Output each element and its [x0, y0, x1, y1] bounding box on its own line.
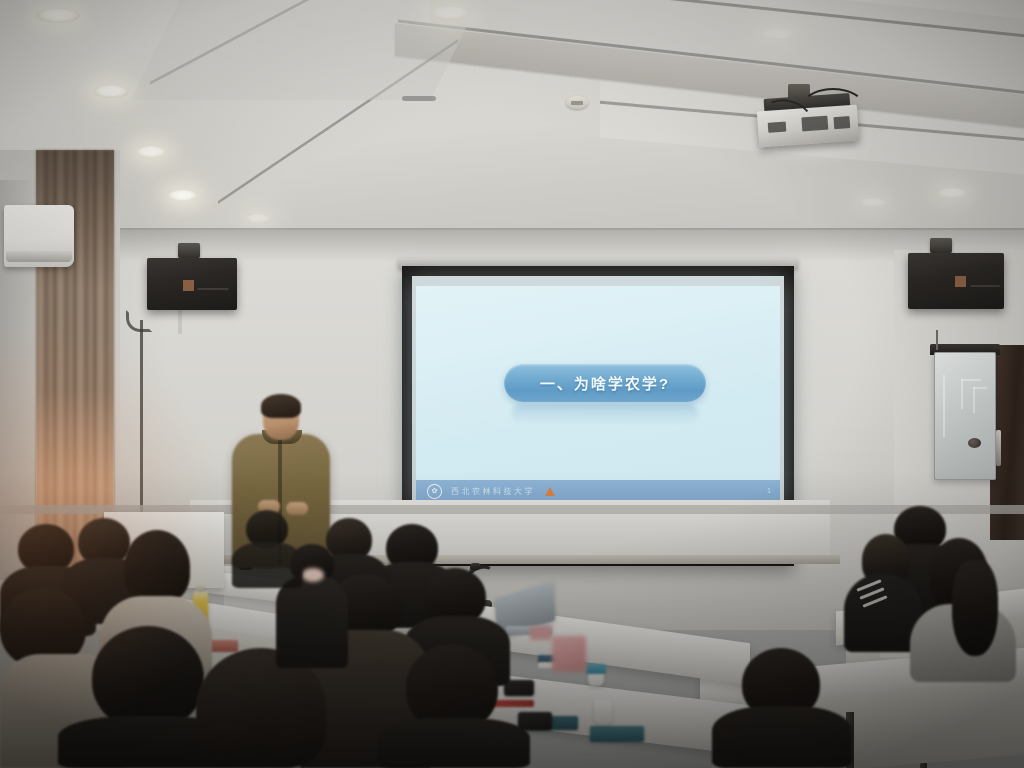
- ceiling-downlight: [135, 146, 167, 158]
- textbook: [590, 726, 644, 742]
- slide-title-text: 一、为啥学农学?: [540, 373, 670, 394]
- ac-unit-icon: [4, 205, 74, 267]
- ceiling-downlight: [36, 8, 80, 23]
- projected-slide: 一、为啥学农学? ✿ 西北农林科技大学 1: [416, 286, 780, 502]
- slide-university-name: 西北农林科技大学: [451, 486, 535, 497]
- slide-footer-bar: ✿ 西北农林科技大学 1: [416, 480, 780, 502]
- ceiling-downlight: [246, 214, 270, 223]
- speaker-icon: [908, 253, 1004, 309]
- paper-cup: [594, 700, 612, 724]
- orange-triangle-icon: [545, 487, 555, 496]
- smartphone: [518, 712, 552, 730]
- slide-pill-reflection: [512, 404, 698, 424]
- slide-title-pill: 一、为啥学农学?: [504, 364, 706, 402]
- ceiling-fixture: [402, 96, 436, 101]
- speaker-icon: [147, 258, 237, 310]
- lecture-hall-photo: 一、为啥学农学? ✿ 西北农林科技大学 1: [0, 0, 1024, 768]
- university-seal-icon: ✿: [427, 484, 442, 499]
- speaker-bracket: [930, 238, 952, 253]
- desk-papers: [552, 636, 586, 672]
- ceiling-downlight: [860, 198, 886, 207]
- cabinet-conduit: [936, 330, 938, 350]
- cabinet-knob[interactable]: [968, 438, 981, 448]
- slide-page-number: 1: [767, 488, 771, 495]
- door-handle[interactable]: [996, 430, 1001, 466]
- ceiling-downlight: [430, 6, 470, 20]
- wall-ceiling-shadow: [0, 228, 1024, 262]
- speaker-bracket: [178, 243, 200, 258]
- cabinet-icon[interactable]: [934, 352, 996, 480]
- ceiling-downlight: [760, 28, 796, 40]
- presenter-hand: [286, 502, 308, 515]
- microphone-head: [470, 563, 481, 570]
- desk-papers: [530, 626, 552, 640]
- bottle-cap: [196, 584, 205, 592]
- cup-label: [586, 664, 606, 674]
- ceiling-downlight: [93, 85, 129, 98]
- presenter-hair: [261, 394, 301, 418]
- smoke-detector-icon: [566, 96, 588, 109]
- ceiling-downlight: [938, 188, 966, 198]
- ceiling-downlight: [168, 190, 197, 201]
